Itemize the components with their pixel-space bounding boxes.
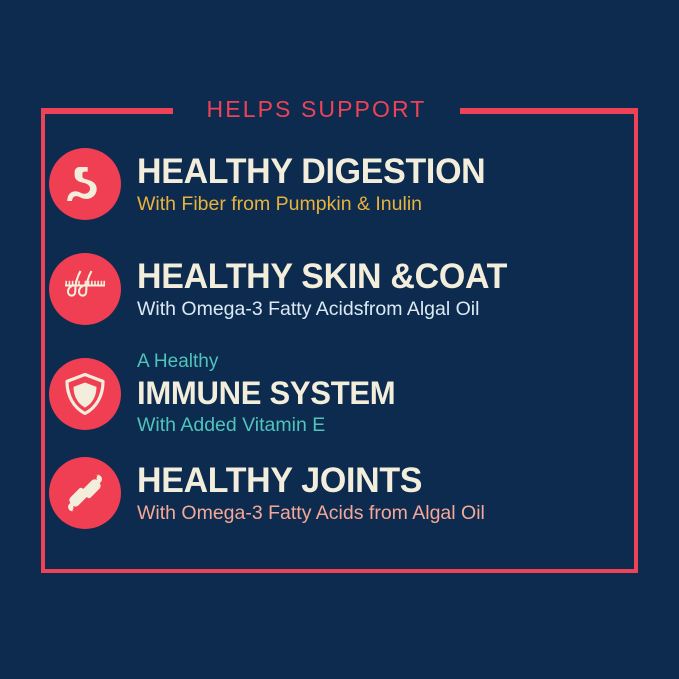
benefit-text: HEALTHY DIGESTION With Fiber from Pumpki… (129, 153, 638, 216)
icon-slot (41, 253, 129, 325)
benefit-heading: IMMUNE SYSTEM (137, 374, 623, 412)
helps-support-infographic: HELPS SUPPORT HEALTHY DIGESTION With Fib… (0, 0, 679, 679)
benefit-subtitle: With Omega-3 Fatty Acids from Algal Oil (137, 501, 638, 525)
benefit-row-immune-system: A Healthy IMMUNE SYSTEM With Added Vitam… (41, 344, 638, 444)
benefits-list: HEALTHY DIGESTION With Fiber from Pumpki… (41, 110, 638, 573)
icon-slot (41, 358, 129, 430)
hair-follicle-icon (49, 253, 121, 325)
benefit-heading: HEALTHY DIGESTION (137, 153, 623, 191)
knee-joint-icon (49, 457, 121, 529)
benefit-text: HEALTHY JOINTS With Omega-3 Fatty Acids … (129, 462, 638, 525)
benefit-text: A Healthy IMMUNE SYSTEM With Added Vitam… (129, 351, 638, 437)
benefit-subtitle: With Omega-3 Fatty Acidsfrom Algal Oil (137, 297, 638, 321)
benefit-heading: HEALTHY JOINTS (137, 462, 623, 500)
benefit-row-digestion: HEALTHY DIGESTION With Fiber from Pumpki… (41, 138, 638, 230)
shield-icon (49, 358, 121, 430)
icon-slot (41, 148, 129, 220)
benefit-heading: HEALTHY SKIN &COAT (137, 258, 623, 296)
benefit-text: HEALTHY SKIN &COAT With Omega-3 Fatty Ac… (129, 258, 638, 321)
stomach-icon (49, 148, 121, 220)
benefit-row-joints: HEALTHY JOINTS With Omega-3 Fatty Acids … (41, 447, 638, 539)
icon-slot (41, 457, 129, 529)
benefit-row-skin-coat: HEALTHY SKIN &COAT With Omega-3 Fatty Ac… (41, 243, 638, 335)
benefit-subtitle: With Added Vitamin E (137, 413, 638, 437)
benefit-subtitle: With Fiber from Pumpkin & Inulin (137, 192, 638, 216)
benefit-eyebrow: A Healthy (137, 351, 638, 373)
